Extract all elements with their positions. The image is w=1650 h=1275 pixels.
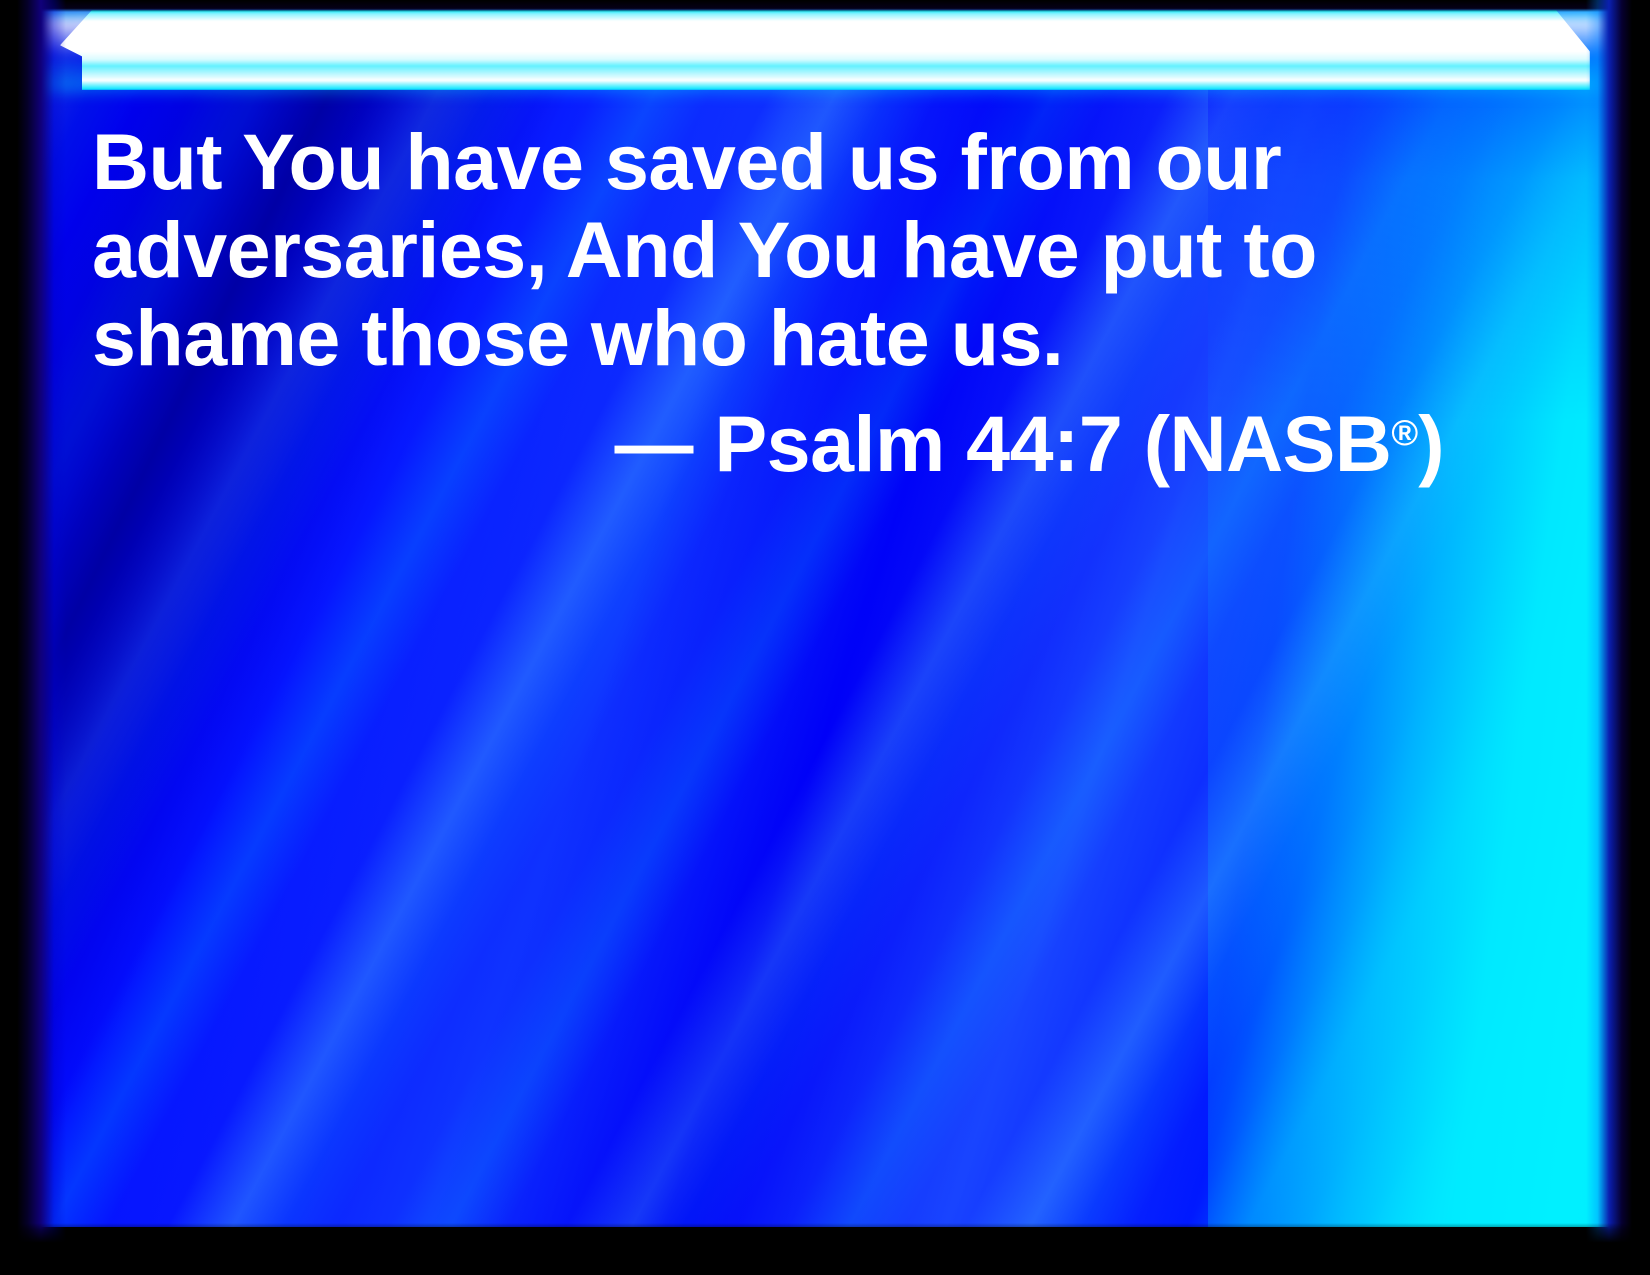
top-glow-band xyxy=(60,10,1590,90)
verse-text: But You have saved us from our adversari… xyxy=(92,118,1452,382)
verse-reference: — Psalm 44:7 (NASB®) xyxy=(92,400,1452,488)
frame-border-left xyxy=(0,0,66,1275)
reference-citation: Psalm 44:7 xyxy=(714,399,1122,488)
frame-border-top xyxy=(0,0,1650,12)
registered-trademark-icon: ® xyxy=(1391,412,1418,453)
frame-border-bottom xyxy=(0,1223,1650,1275)
reference-translation-close: ) xyxy=(1418,399,1444,488)
reference-dash: — xyxy=(615,399,694,488)
verse-slide: But You have saved us from our adversari… xyxy=(0,0,1650,1275)
reference-translation-open: (NASB xyxy=(1144,399,1392,488)
verse-block: But You have saved us from our adversari… xyxy=(92,118,1452,488)
frame-border-right xyxy=(1586,0,1650,1275)
